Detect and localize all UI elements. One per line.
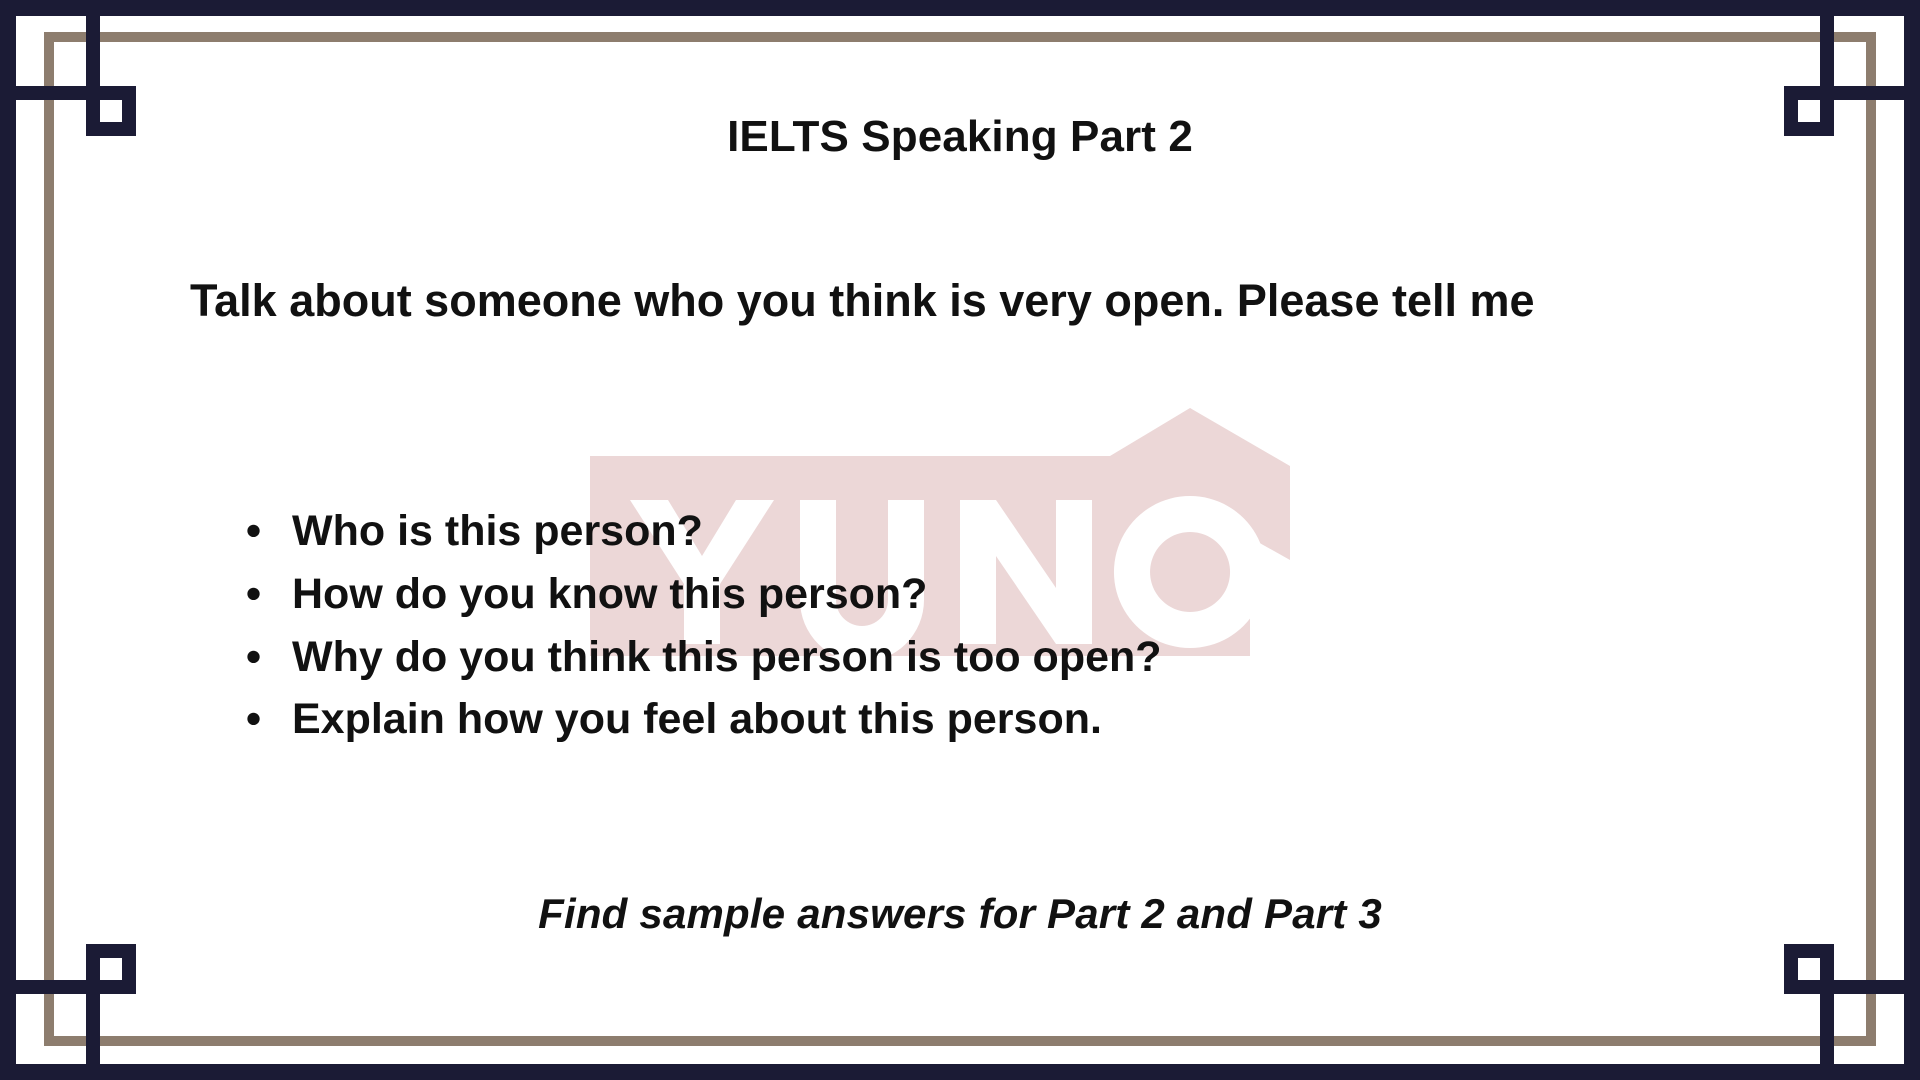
- list-item: • How do you know this person?: [290, 563, 1740, 626]
- task-prompt: Talk about someone who you think is very…: [190, 270, 1690, 331]
- list-item-label: Why do you think this person is too open…: [292, 633, 1162, 681]
- slide-canvas: IELTS Speaking Part 2 Talk about someone…: [0, 0, 1920, 1080]
- list-item: • Why do you think this person is too op…: [290, 626, 1740, 689]
- page-title: IELTS Speaking Part 2: [0, 112, 1920, 162]
- bullet-dot-icon: •: [246, 626, 261, 689]
- cue-card-bullet-list: • Who is this person? • How do you know …: [238, 500, 1740, 751]
- bullet-dot-icon: •: [246, 688, 261, 751]
- sample-answers-note: Find sample answers for Part 2 and Part …: [0, 890, 1920, 938]
- bullet-dot-icon: •: [246, 500, 261, 563]
- list-item-label: Explain how you feel about this person.: [292, 695, 1102, 743]
- list-item: • Who is this person?: [290, 500, 1740, 563]
- bullet-dot-icon: •: [246, 563, 261, 626]
- slide-content: IELTS Speaking Part 2 Talk about someone…: [0, 0, 1920, 1080]
- list-item-label: Who is this person?: [292, 507, 703, 555]
- list-item-label: How do you know this person?: [292, 570, 927, 618]
- list-item: • Explain how you feel about this person…: [290, 688, 1740, 751]
